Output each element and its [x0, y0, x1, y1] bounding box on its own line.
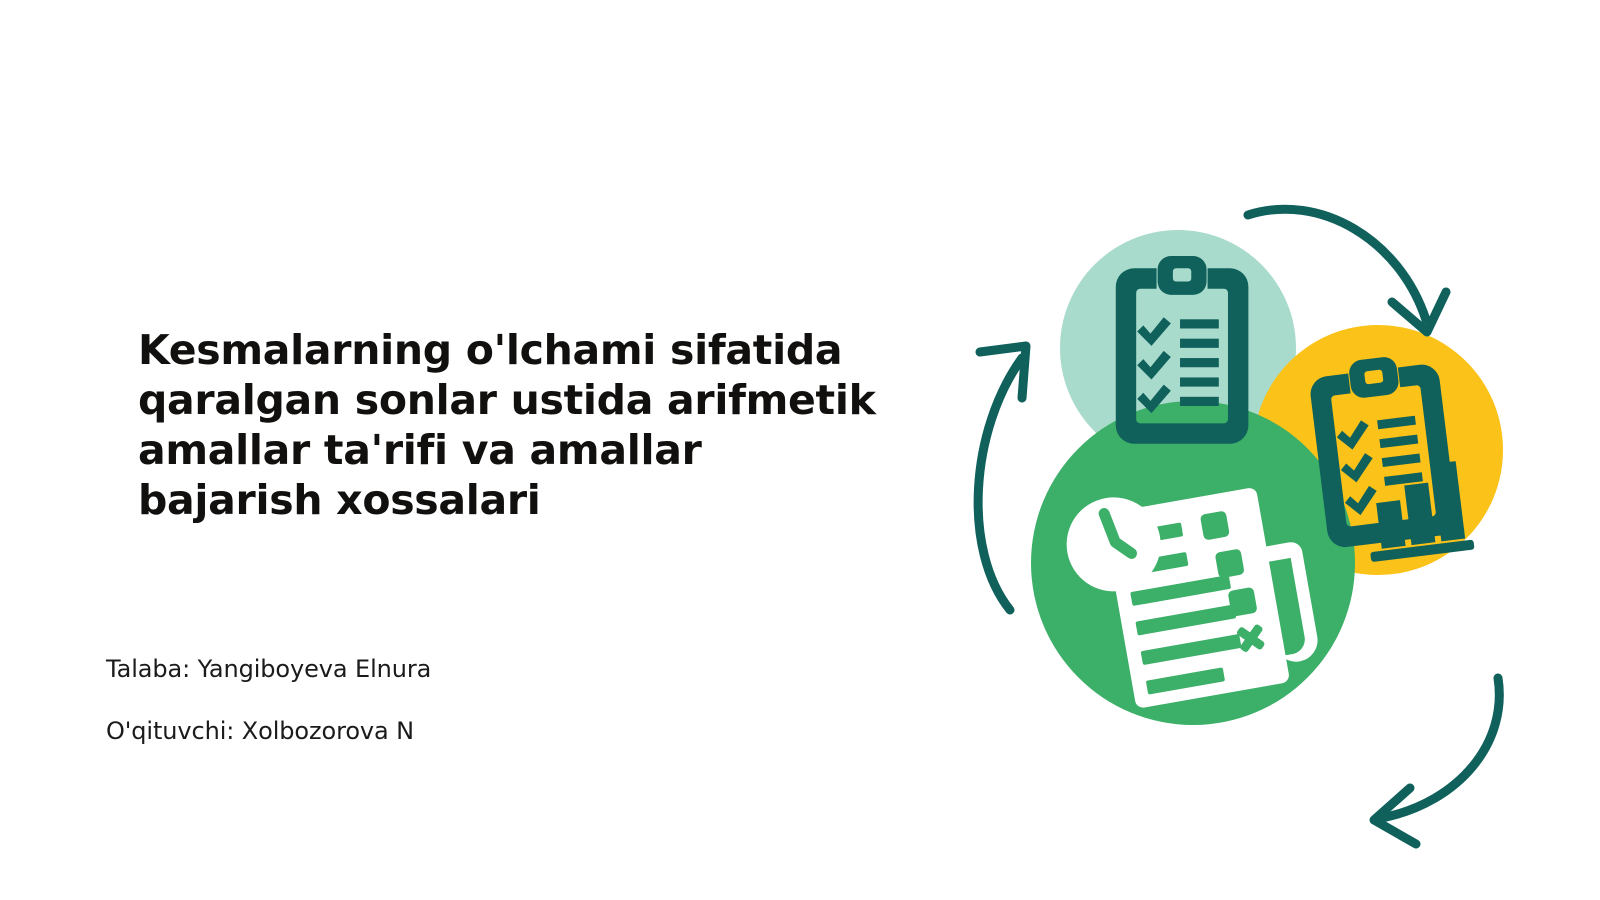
title-block: Kesmalarning o'lchami sifatida qaralgan …	[138, 325, 898, 525]
page-title: Kesmalarning o'lchami sifatida qaralgan …	[138, 325, 898, 525]
byline-student: Talaba: Yangiboyeva Elnura	[106, 655, 806, 684]
three-circle-cycle-illustration	[930, 130, 1540, 750]
byline-block: Talaba: Yangiboyeva Elnura O'qituvchi: X…	[106, 655, 806, 746]
arrow-bottom-right	[1374, 678, 1499, 844]
byline-teacher: O'qituvchi: Xolbozorova N	[106, 717, 806, 746]
slide-canvas: Kesmalarning o'lchami sifatida qaralgan …	[0, 0, 1600, 900]
arrow-left	[978, 346, 1026, 610]
